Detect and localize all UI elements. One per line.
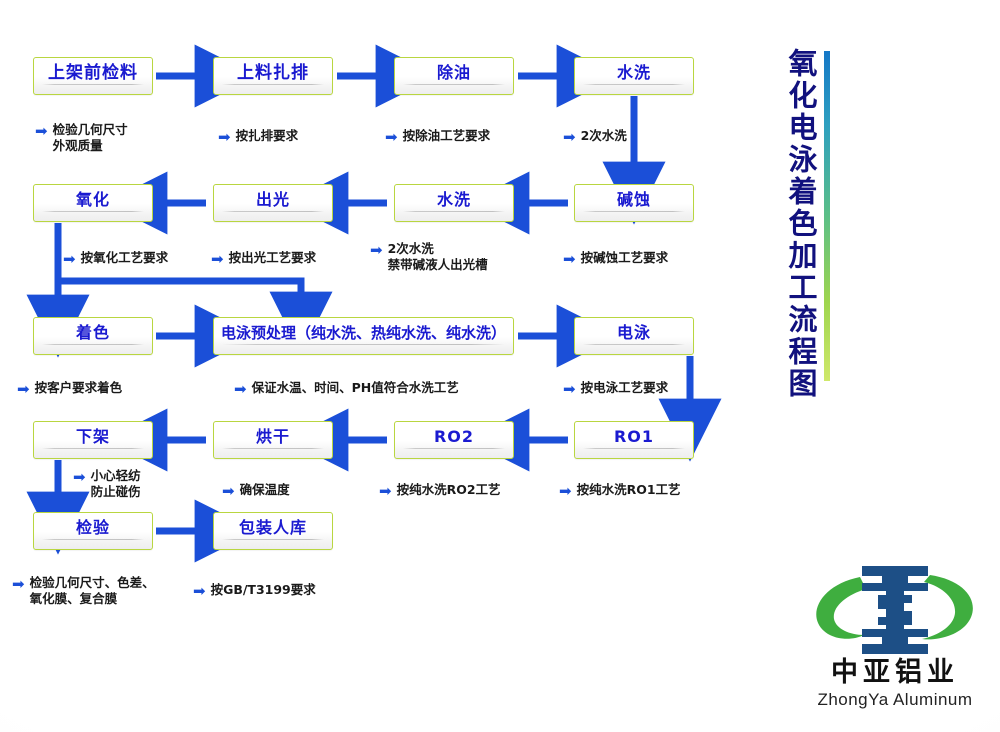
- box-underline: [42, 211, 144, 212]
- process-box-jianyan[interactable]: 检验: [33, 512, 153, 550]
- company-logo: 中亚铝业 ZhongYa Aluminum: [800, 555, 990, 720]
- logo-company-name-cn: 中亚铝业: [800, 659, 990, 686]
- arrow-bullet-icon: ➡: [385, 129, 398, 145]
- process-box-honggan[interactable]: 烘干: [213, 421, 333, 459]
- box-underline: [222, 448, 324, 449]
- note-quebaowendu: ➡ 确保温度: [222, 482, 290, 498]
- note-text: 按除油工艺要求: [403, 128, 491, 144]
- process-box-label: 碱蚀: [617, 192, 651, 208]
- page-title: 氧化电泳着色加工流程图: [786, 48, 815, 396]
- process-box-shangjiaqianjianliao[interactable]: 上架前检料: [33, 57, 153, 95]
- arrow-bullet-icon: ➡: [370, 242, 383, 258]
- logo-company-name-en: ZhongYa Aluminum: [800, 691, 990, 708]
- process-box-jianshi[interactable]: 碱蚀: [574, 184, 694, 222]
- process-box-chuyou[interactable]: 除油: [394, 57, 514, 95]
- process-box-label: 检验: [76, 520, 110, 536]
- process-box-label: 着色: [76, 325, 110, 341]
- process-box-xiajia[interactable]: 下架: [33, 421, 153, 459]
- process-box-baozhuangruku[interactable]: 包装人库: [213, 512, 333, 550]
- process-box-label: RO2: [434, 429, 474, 445]
- arrow-bullet-icon: ➡: [12, 576, 25, 592]
- arrow-bullet-icon: ➡: [563, 129, 576, 145]
- note-text: 2次水洗禁带碱液人出光槽: [388, 241, 488, 273]
- box-underline: [583, 448, 685, 449]
- process-box-yanghua[interactable]: 氧化: [33, 184, 153, 222]
- arrow-bullet-icon: ➡: [222, 483, 235, 499]
- box-underline: [583, 211, 685, 212]
- box-underline: [403, 84, 505, 85]
- note-anchuyougongyiyaoqiu: ➡ 按除油工艺要求: [385, 128, 490, 144]
- note-anchunshuixiro2gongyi: ➡ 按纯水洗RO2工艺: [379, 482, 501, 498]
- note-anchuguanggongyiyaoqiu: ➡ 按出光工艺要求: [211, 250, 316, 266]
- arrow-bullet-icon: ➡: [63, 251, 76, 267]
- note-text: 检验几何尺寸外观质量: [53, 122, 128, 154]
- process-box-label: 水洗: [437, 192, 471, 208]
- process-box-label: 电泳: [617, 325, 651, 341]
- box-underline: [42, 539, 144, 540]
- arrow-bullet-icon: ➡: [563, 251, 576, 267]
- note-jianyanjihechicun: ➡ 检验几何尺寸外观质量: [35, 122, 128, 154]
- process-box-ro1[interactable]: RO1: [574, 421, 694, 459]
- note-text: 按纯水洗RO2工艺: [397, 482, 501, 498]
- note-anchunshuixiro1gongyi: ➡ 按纯水洗RO1工艺: [559, 482, 681, 498]
- logo-swoosh-right: [922, 575, 973, 639]
- arrow-bullet-icon: ➡: [35, 123, 48, 139]
- box-underline: [42, 84, 144, 85]
- box-underline: [403, 211, 505, 212]
- note-anyanghuagongyiyaoqiu: ➡ 按氧化工艺要求: [63, 250, 168, 266]
- process-box-dianyong[interactable]: 电泳: [574, 317, 694, 355]
- box-underline: [222, 539, 324, 540]
- arrow-bullet-icon: ➡: [17, 381, 30, 397]
- note-ankehuyaoqiuzhuose: ➡ 按客户要求着色: [17, 380, 122, 396]
- note-text: 保证水温、时间、PH值符合水洗工艺: [252, 380, 459, 396]
- arrow-bullet-icon: ➡: [211, 251, 224, 267]
- box-underline: [42, 448, 144, 449]
- process-box-label: 除油: [437, 65, 471, 81]
- process-box-zhuose[interactable]: 着色: [33, 317, 153, 355]
- process-box-label: 水洗: [617, 65, 651, 81]
- process-box-label: 包装人库: [239, 520, 307, 536]
- box-underline: [403, 448, 505, 449]
- note-angbt3199yaoqiu: ➡ 按GB/T3199要求: [193, 582, 316, 598]
- process-box-chuguang[interactable]: 出光: [213, 184, 333, 222]
- note-2cishuixi-2: ➡ 2次水洗禁带碱液人出光槽: [370, 241, 488, 273]
- note-andianyonggongyiyaoqiu: ➡ 按电泳工艺要求: [563, 380, 668, 396]
- process-box-shuixi-2[interactable]: 水洗: [394, 184, 514, 222]
- box-underline: [222, 84, 324, 85]
- arrow-bullet-icon: ➡: [193, 583, 206, 599]
- diagram-title: 氧化电泳着色加工流程图: [786, 48, 866, 398]
- arrow-bullet-icon: ➡: [379, 483, 392, 499]
- process-box-shuixi-1[interactable]: 水洗: [574, 57, 694, 95]
- box-underline: [222, 211, 324, 212]
- logo-swoosh-left: [816, 577, 866, 639]
- note-baozhengshuiwen: ➡ 保证水温、时间、PH值符合水洗工艺: [234, 380, 459, 396]
- note-text: 检验几何尺寸、色差、氧化膜、复合膜: [30, 575, 155, 607]
- note-text: 按氧化工艺要求: [81, 250, 169, 266]
- note-jianyanjihechicunsecha: ➡ 检验几何尺寸、色差、氧化膜、复合膜: [12, 575, 155, 607]
- process-box-label: 下架: [76, 429, 110, 445]
- logo-mark-icon: [800, 555, 990, 665]
- note-anzhapaiyaoqiu: ➡ 按扎排要求: [218, 128, 298, 144]
- note-text: 按GB/T3199要求: [211, 582, 316, 598]
- flowchart-canvas: 上架前检料 上料扎排 除油 水洗 ➡ 检验几何尺寸外观质量 ➡ 按扎排要求 ➡ …: [0, 0, 1000, 732]
- process-box-dianyongyuchuli[interactable]: 电泳预处理（纯水洗、热纯水洗、纯水洗）: [213, 317, 514, 355]
- note-text: 按出光工艺要求: [229, 250, 317, 266]
- box-underline: [583, 344, 685, 345]
- note-anjianshigongyiyaoqiu: ➡ 按碱蚀工艺要求: [563, 250, 668, 266]
- process-box-label: RO1: [614, 429, 654, 445]
- note-text: 按纯水洗RO1工艺: [577, 482, 681, 498]
- process-box-label: 上架前检料: [48, 65, 138, 82]
- process-box-label: 电泳预处理（纯水洗、热纯水洗、纯水洗）: [221, 326, 506, 341]
- note-text: 按扎排要求: [236, 128, 299, 144]
- note-text: 2次水洗: [581, 128, 627, 144]
- process-box-label: 出光: [256, 192, 290, 208]
- note-text: 小心轻纺防止碰伤: [91, 468, 141, 500]
- process-box-label: 氧化: [76, 192, 110, 208]
- box-underline: [222, 344, 505, 345]
- note-xiaoxinqingfang: ➡ 小心轻纺防止碰伤: [73, 468, 141, 500]
- title-accent-bar: [824, 51, 830, 381]
- logo-monogram: [862, 566, 928, 654]
- note-text: 确保温度: [240, 482, 290, 498]
- arrow-bullet-icon: ➡: [559, 483, 572, 499]
- arrow-bullet-icon: ➡: [234, 381, 247, 397]
- note-text: 按客户要求着色: [35, 380, 123, 396]
- arrow-bullet-icon: ➡: [73, 469, 86, 485]
- process-box-label: 上料扎排: [237, 65, 309, 82]
- process-box-label: 烘干: [256, 429, 290, 445]
- process-box-ro2[interactable]: RO2: [394, 421, 514, 459]
- process-box-shangliaozhapai[interactable]: 上料扎排: [213, 57, 333, 95]
- note-2cishuixi-1: ➡ 2次水洗: [563, 128, 627, 144]
- box-underline: [583, 84, 685, 85]
- note-text: 按碱蚀工艺要求: [581, 250, 669, 266]
- arrow-bullet-icon: ➡: [218, 129, 231, 145]
- note-text: 按电泳工艺要求: [581, 380, 669, 396]
- arrow-bullet-icon: ➡: [563, 381, 576, 397]
- box-underline: [42, 344, 144, 345]
